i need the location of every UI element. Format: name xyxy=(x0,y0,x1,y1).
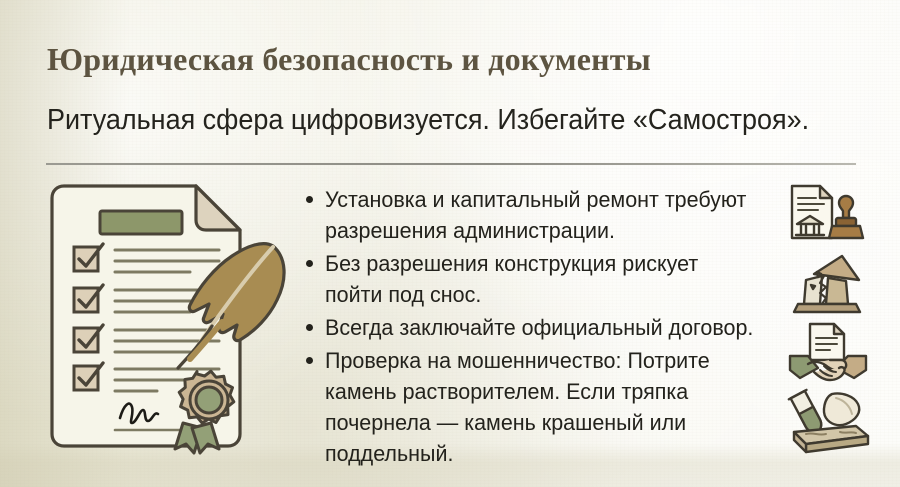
header-divider xyxy=(46,163,856,165)
slide-root: Юридическая безопасность и документы Рит… xyxy=(0,0,900,487)
bullet-dot-icon xyxy=(306,357,313,364)
bullet-dot-icon xyxy=(306,196,313,203)
list-item: Без разрешения конструкция рискует пойти… xyxy=(306,248,776,310)
icon-column xyxy=(784,180,880,460)
permit-document-stamp-icon xyxy=(784,180,874,246)
checkbox-checked xyxy=(74,363,103,390)
list-item: Установка и капитальный ремонт требуют р… xyxy=(306,184,776,246)
page-subtitle: Ритуальная сфера цифровизуется. Избегайт… xyxy=(47,104,809,137)
list-item: Всегда заключайте официальный договор. xyxy=(306,312,776,343)
solvent-test-stone-icon xyxy=(784,388,874,454)
contract-document-with-quill-illustration xyxy=(44,176,306,458)
list-item-text: Всегда заключайте официальный договор. xyxy=(325,312,756,343)
list-item: Проверка на мошенничество: Потрите камен… xyxy=(306,345,776,469)
page-title: Юридическая безопасность и документы xyxy=(47,41,651,78)
bullet-list: Установка и капитальный ремонт требуют р… xyxy=(306,184,776,471)
green-header-bar xyxy=(100,211,182,234)
checkbox-checked xyxy=(74,244,103,271)
bullet-dot-icon xyxy=(306,260,313,267)
demolished-house-icon xyxy=(784,252,874,318)
checkbox-checked xyxy=(74,325,103,352)
bullet-dot-icon xyxy=(306,324,313,331)
checkbox-checked xyxy=(74,285,103,312)
list-item-text: Проверка на мошенничество: Потрите камен… xyxy=(325,345,756,469)
list-item-text: Установка и капитальный ремонт требуют р… xyxy=(325,184,756,246)
list-item-text: Без разрешения конструкция рискует пойти… xyxy=(325,248,756,310)
handshake-contract-icon xyxy=(784,322,874,388)
